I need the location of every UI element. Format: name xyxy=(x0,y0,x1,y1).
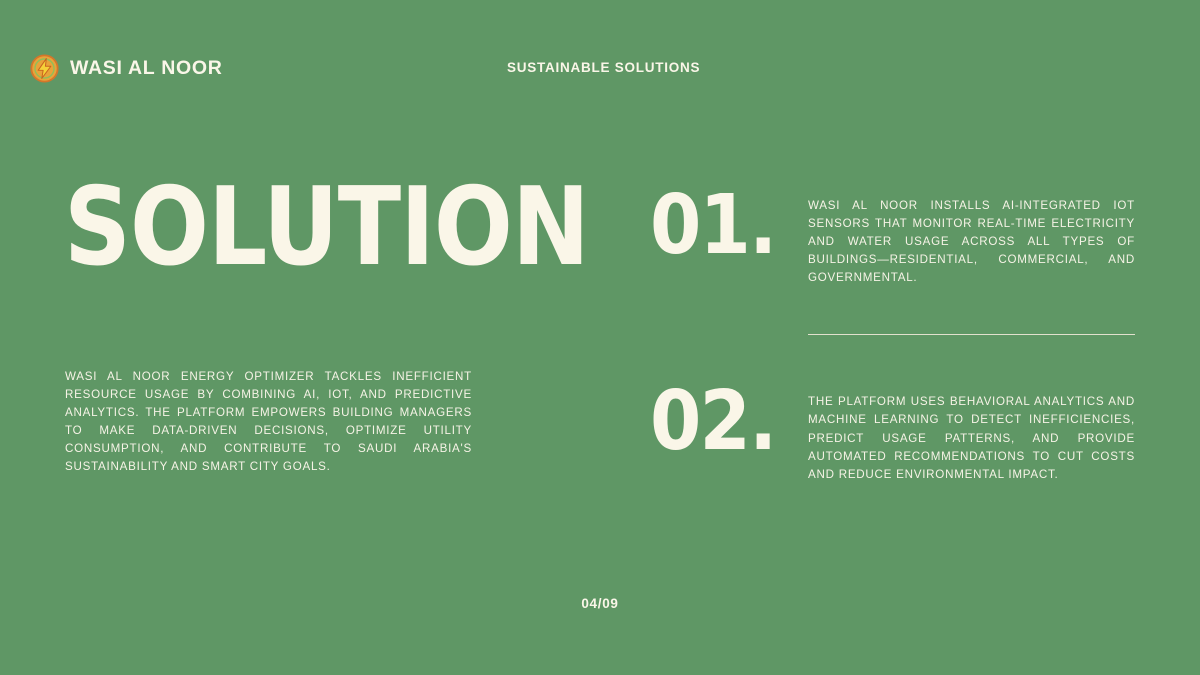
lightning-bolt-badge-icon xyxy=(30,54,59,83)
point-text: THE PLATFORM USES BEHAVIORAL ANALYTICS A… xyxy=(808,382,1135,483)
points-divider xyxy=(808,334,1135,335)
point-number: 02. xyxy=(650,384,792,459)
page-number: 04/09 xyxy=(0,596,1200,611)
page-title: SOLUTION xyxy=(64,178,589,277)
intro-paragraph: WASI AL NOOR ENERGY OPTIMIZER TACKLES IN… xyxy=(65,368,472,476)
brand-lockup: WASI AL NOOR xyxy=(30,54,223,83)
slide-canvas: WASI AL NOOR SUSTAINABLE SOLUTIONS SOLUT… xyxy=(0,0,1200,675)
point-text: WASI AL NOOR INSTALLS AI-INTEGRATED IOT … xyxy=(808,186,1135,287)
brand-name: WASI AL NOOR xyxy=(70,59,223,79)
list-item: 02. THE PLATFORM USES BEHAVIORAL ANALYTI… xyxy=(650,382,1135,483)
section-eyebrow: SUSTAINABLE SOLUTIONS xyxy=(507,60,700,75)
point-number: 01. xyxy=(650,188,792,263)
points-list: 01. WASI AL NOOR INSTALLS AI-INTEGRATED … xyxy=(650,186,1135,484)
list-item: 01. WASI AL NOOR INSTALLS AI-INTEGRATED … xyxy=(650,186,1135,287)
